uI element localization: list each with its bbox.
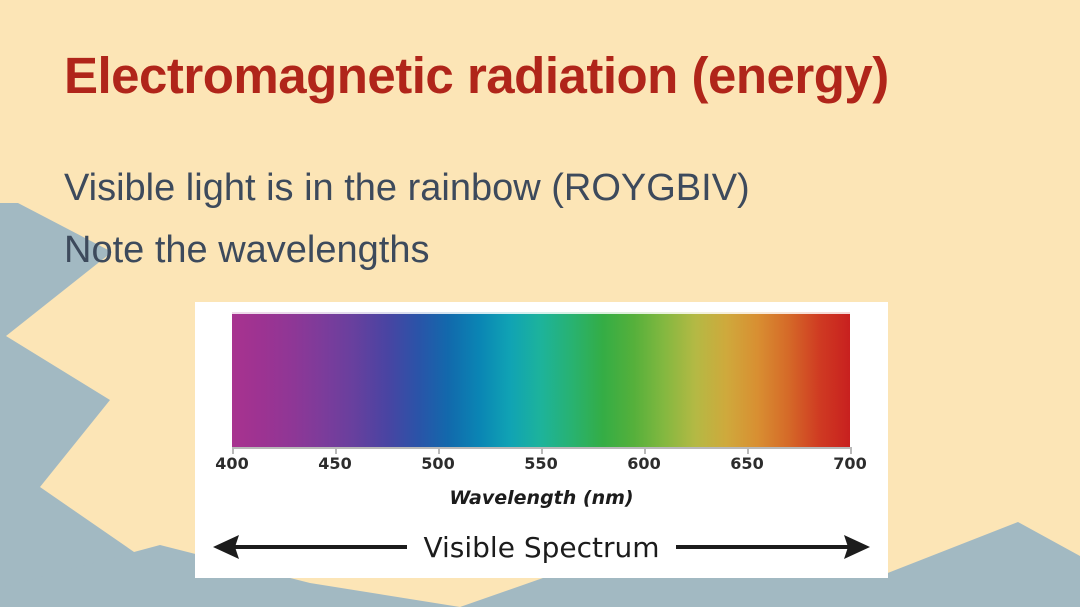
axis-tick [747, 447, 749, 454]
visible-spectrum-label: Visible Spectrum [407, 531, 675, 564]
axis-tick [541, 447, 543, 454]
spectrum-top-haze [229, 303, 853, 314]
axis-tick-label: 400 [215, 454, 248, 473]
slide-canvas: Electromagnetic radiation (energy) Visib… [0, 0, 1080, 607]
visible-spectrum-figure: 400450500550600650700 Wavelength (nm) Vi… [195, 302, 888, 578]
axis-tick-labels: 400450500550600650700 [195, 454, 888, 478]
axis-tick [335, 447, 337, 454]
axis-tick [232, 447, 234, 454]
page-title: Electromagnetic radiation (energy) [64, 48, 1024, 104]
axis-tick-label: 600 [627, 454, 660, 473]
body-line-1: Visible light is in the rainbow (ROYGBIV… [64, 158, 964, 220]
spectrum-gradient-bar [232, 312, 850, 447]
arrow-right-icon [676, 532, 872, 562]
body-text-block: Visible light is in the rainbow (ROYGBIV… [64, 158, 964, 281]
axis-tick-label: 450 [318, 454, 351, 473]
body-line-2: Note the wavelengths [64, 220, 964, 282]
axis-tick-label: 550 [524, 454, 557, 473]
spectrum-gradient-wrap [232, 312, 850, 447]
visible-spectrum-caption-row: Visible Spectrum [195, 524, 888, 570]
axis-tick [438, 447, 440, 454]
axis-tick-label: 700 [833, 454, 866, 473]
arrow-left-icon [211, 532, 407, 562]
axis-tick-label: 650 [730, 454, 763, 473]
axis-tick [850, 447, 852, 454]
axis-tick [644, 447, 646, 454]
axis-tick-label: 500 [421, 454, 454, 473]
axis-title: Wavelength (nm) [195, 487, 888, 509]
